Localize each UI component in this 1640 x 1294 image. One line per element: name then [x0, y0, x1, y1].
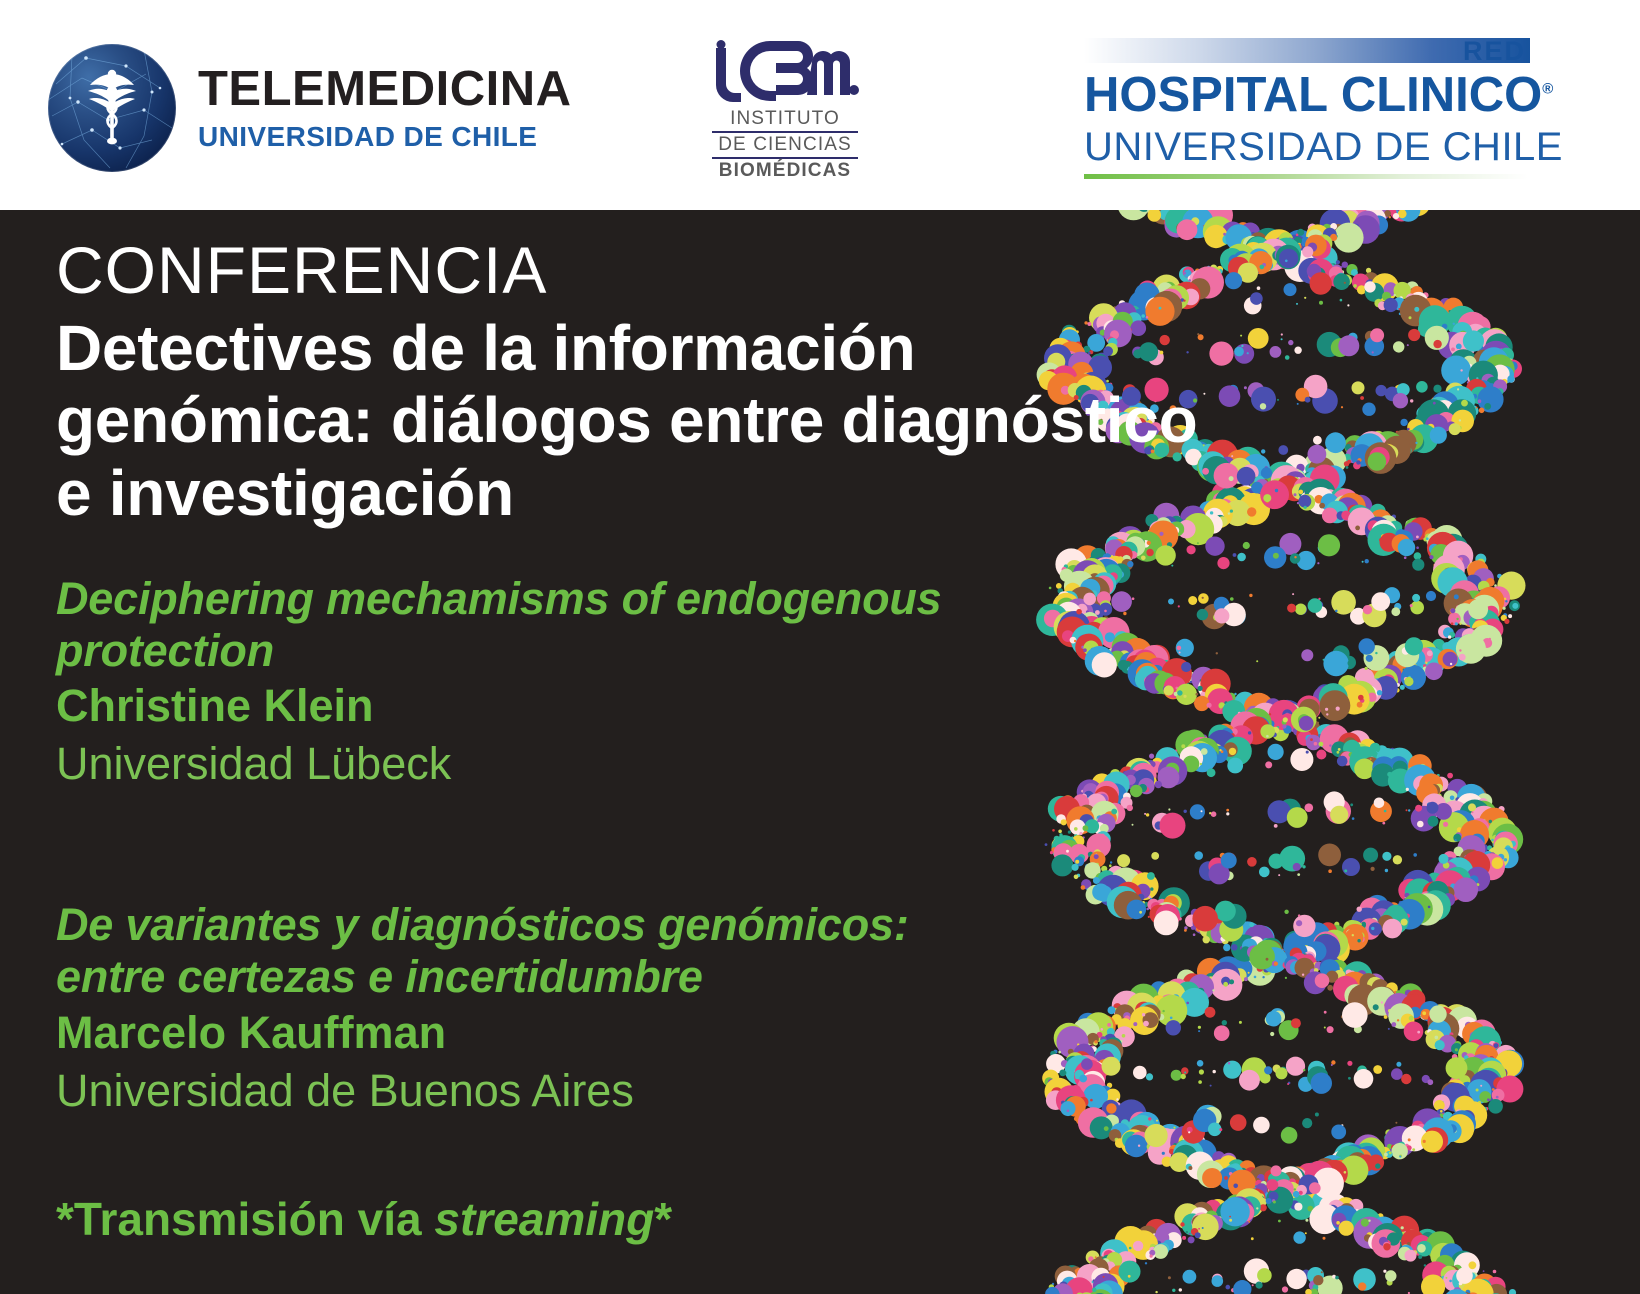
logo-hospital-clinico: RED HOSPITAL CLINICO® UNIVERSIDAD DE CHI… [1068, 38, 1530, 179]
speaker-name-1: Christine Klein [56, 679, 1236, 733]
icbm-monogram-icon [700, 40, 870, 102]
registered-mark-icon: ® [1542, 81, 1553, 98]
hospital-red-label: RED [1463, 36, 1526, 67]
hospital-gradient-bar: RED [1084, 38, 1530, 63]
hospital-wordmark: HOSPITAL CLINICO® [1084, 67, 1530, 123]
streaming-suffix: * [654, 1193, 672, 1245]
logo-telemedicina: TELEMEDICINA UNIVERSIDAD DE CHILE [48, 44, 572, 172]
icbm-divider-2 [712, 157, 858, 159]
icbm-line-3: BIOMÉDICAS [719, 160, 851, 182]
speaker-affiliation-2: Universidad de Buenos Aires [56, 1064, 1236, 1118]
page-kicker: CONFERENCIA [56, 236, 1236, 306]
globe-caduceus-icon [48, 44, 176, 172]
icbm-line-1: INSTITUTO [730, 108, 840, 130]
page-title: Detectives de la información genómica: d… [56, 312, 1236, 529]
talk-title-2: De variantes y diagnósticos genómicos: e… [56, 899, 1016, 1003]
hospital-green-bar [1084, 174, 1528, 179]
poster-header: TELEMEDICINA UNIVERSIDAD DE CHILE [0, 0, 1640, 210]
streaming-note: *Transmisión vía streaming* [56, 1192, 1236, 1246]
talk-title-1: Deciphering mechamisms of endogenous pro… [56, 573, 1016, 677]
talk-block-1: Deciphering mechamisms of endogenous pro… [56, 573, 1236, 791]
conference-poster: TELEMEDICINA UNIVERSIDAD DE CHILE [0, 0, 1640, 1294]
streaming-prefix: *Transmisión vía [56, 1193, 434, 1245]
icbm-line-2: DE CIENCIAS [718, 134, 852, 156]
speaker-affiliation-1: Universidad Lübeck [56, 737, 1236, 791]
poster-content: CONFERENCIA Detectives de la información… [56, 236, 1236, 1246]
telemedicina-wordmark: TELEMEDICINA [198, 65, 572, 114]
telemedicina-subtitle: UNIVERSIDAD DE CHILE [198, 123, 572, 151]
speaker-name-2: Marcelo Kauffman [56, 1006, 1236, 1060]
streaming-emphasis: streaming [434, 1193, 654, 1245]
logo-icbm: INSTITUTO DE CIENCIAS BIOMÉDICAS [700, 40, 870, 182]
icbm-divider [712, 131, 858, 133]
talk-block-2: De variantes y diagnósticos genómicos: e… [56, 899, 1236, 1117]
hospital-subtitle: UNIVERSIDAD DE CHILE [1084, 125, 1530, 170]
hospital-wordmark-text: HOSPITAL CLINICO [1084, 68, 1542, 122]
